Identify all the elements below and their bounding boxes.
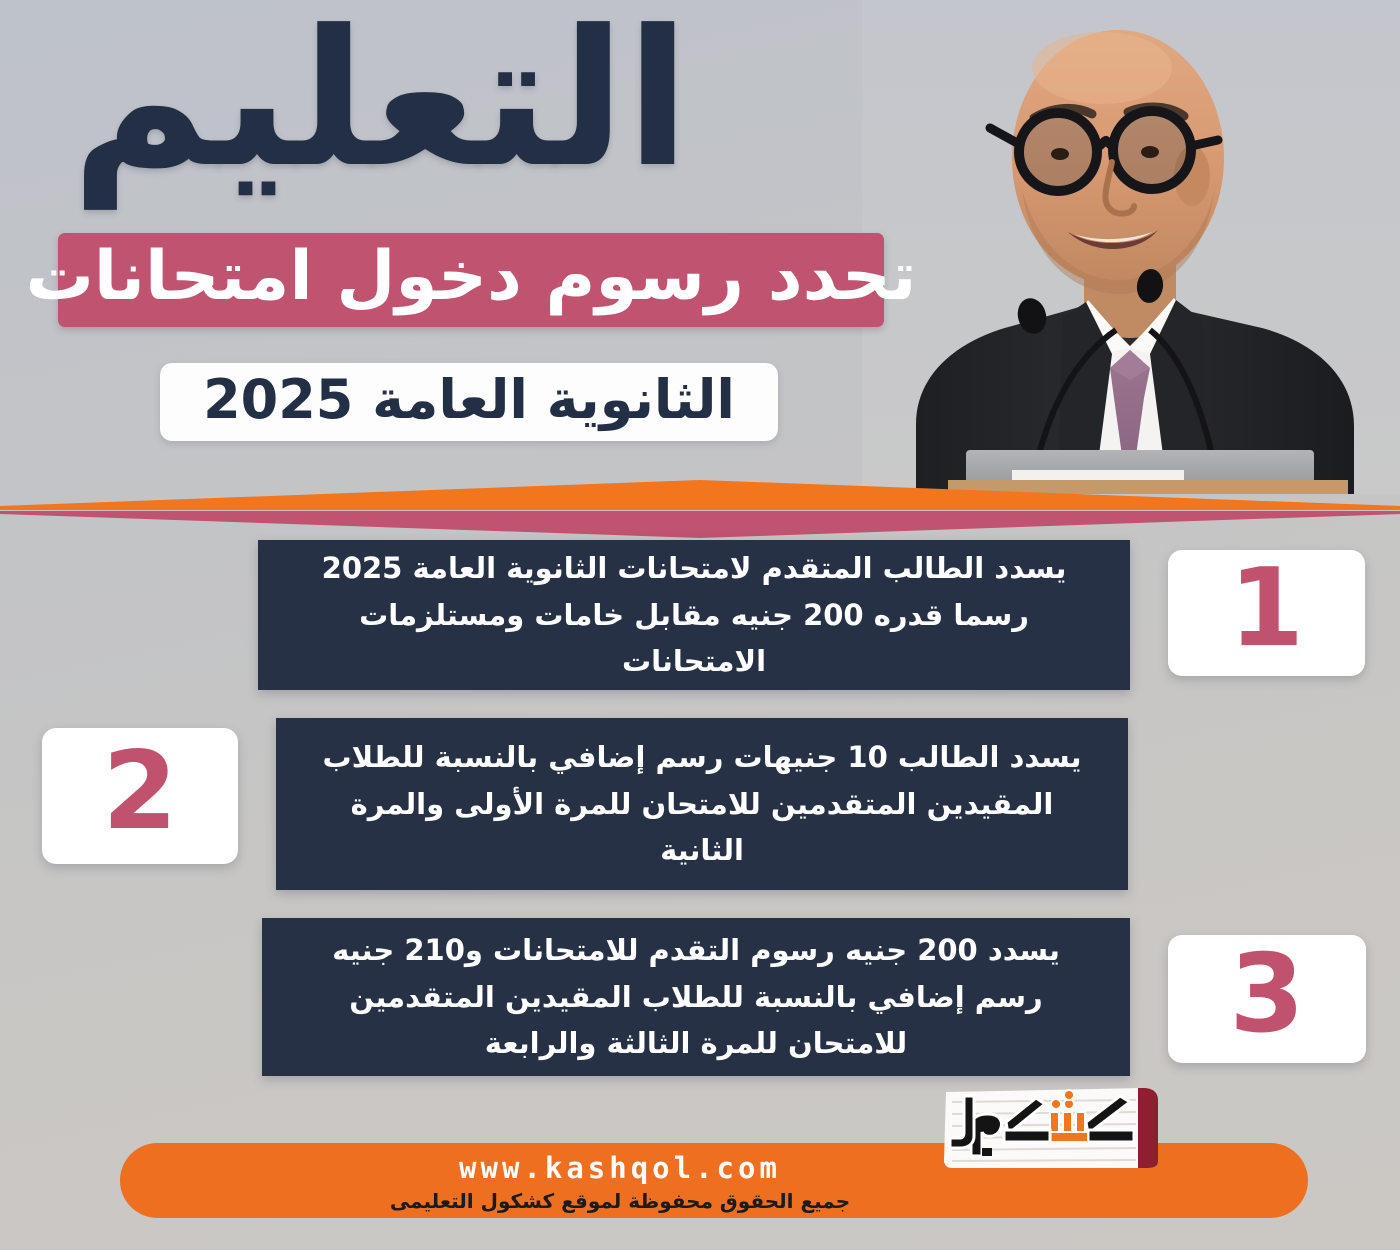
- subtitle-white-band: الثانوية العامة 2025: [160, 363, 778, 441]
- chevron-divider: [0, 470, 1400, 540]
- point-box-3: يسدد 200 جنيه رسوم التقدم للامتحانات و21…: [262, 918, 1130, 1076]
- kashqol-logo[interactable]: [938, 1082, 1168, 1170]
- subtitle-pink-text: تحدد رسوم دخول امتحانات: [26, 243, 917, 317]
- point-badge-2: 2: [42, 728, 238, 864]
- point-box-2: يسدد الطالب 10 جنيهات رسم إضافي بالنسبة …: [276, 718, 1128, 890]
- subtitle-pink-band: تحدد رسوم دخول امتحانات: [58, 233, 884, 327]
- infographic-canvas: التعليم تحدد رسوم دخول امتحانات الثانوية…: [0, 0, 1400, 1250]
- point-text-2: يسدد الطالب 10 جنيهات رسم إضافي بالنسبة …: [310, 734, 1094, 875]
- point-badge-1: 1: [1168, 550, 1365, 676]
- subtitle-white-text: الثانوية العامة 2025: [203, 373, 735, 432]
- footer-copyright-text: جميع الحقوق محفوظة لموقع كشكول التعليمى: [120, 1189, 1120, 1213]
- headline-group: التعليم تحدد رسوم دخول امتحانات الثانوية…: [0, 0, 905, 465]
- point-text-3: يسدد 200 جنيه رسوم التقدم للامتحانات و21…: [296, 927, 1096, 1068]
- point-number-1: 1: [1229, 555, 1304, 671]
- point-number-2: 2: [102, 738, 177, 854]
- page-title: التعليم: [71, 6, 690, 194]
- point-text-1: يسدد الطالب المتقدم لامتحانات الثانوية ا…: [292, 545, 1096, 686]
- point-badge-3: 3: [1168, 935, 1366, 1063]
- point-number-3: 3: [1229, 941, 1304, 1057]
- point-box-1: يسدد الطالب المتقدم لامتحانات الثانوية ا…: [258, 540, 1130, 690]
- minister-photo: [862, 0, 1400, 494]
